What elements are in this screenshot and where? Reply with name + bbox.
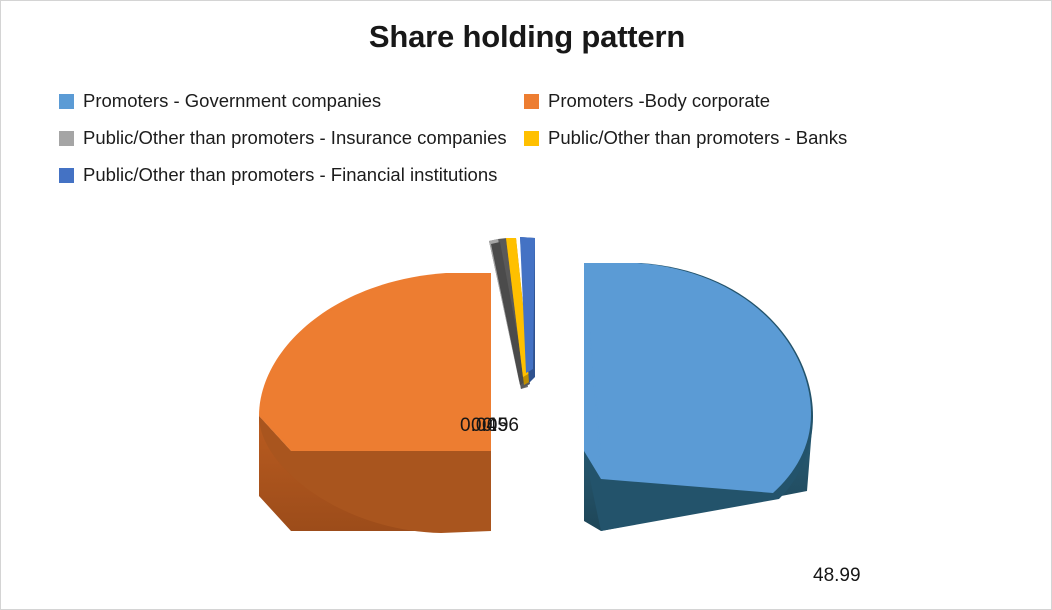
pie-chart-graphic [1,201,1052,581]
pie-slice-body-corporate[interactable] [259,273,491,533]
pie-plot-area: 48.99 49.00 0.04 0.05 0.96 [1,201,1052,581]
data-label-financial-institutions: 0.96 [482,416,519,435]
pie-slice-government-companies[interactable] [584,263,813,531]
legend-swatch-icon [59,131,74,146]
pie-slice-top-face [584,263,811,493]
legend-swatch-icon [524,131,539,146]
legend-item-insurance-companies[interactable]: Public/Other than promoters - Insurance … [59,120,524,157]
legend-item-label: Promoters -Body corporate [548,92,770,111]
legend-row: Promoters - Government companies Promote… [59,83,994,120]
legend-swatch-icon [59,168,74,183]
page-title: Share holding pattern [1,19,1052,55]
legend-item-banks[interactable]: Public/Other than promoters - Banks [524,120,854,157]
pie-slice-top-face-overlay [261,275,490,449]
legend-swatch-icon [59,94,74,109]
legend-swatch-icon [524,94,539,109]
legend-item-label: Public/Other than promoters - Insurance … [83,129,507,148]
legend-item-label: Promoters - Government companies [83,92,381,111]
legend-item-label: Public/Other than promoters - Financial … [83,166,497,185]
legend-row: Public/Other than promoters - Insurance … [59,120,994,157]
legend-item-government-companies[interactable]: Promoters - Government companies [59,83,524,120]
legend-item-label: Public/Other than promoters - Banks [548,129,847,148]
chart-canvas: Share holding pattern Promoters - Govern… [0,0,1052,610]
chart-legend: Promoters - Government companies Promote… [59,83,994,194]
legend-row: Public/Other than promoters - Financial … [59,157,994,194]
legend-item-body-corporate[interactable]: Promoters -Body corporate [524,83,824,120]
data-label-government-companies: 48.99 [813,566,861,585]
legend-item-financial-institutions[interactable]: Public/Other than promoters - Financial … [59,157,524,194]
